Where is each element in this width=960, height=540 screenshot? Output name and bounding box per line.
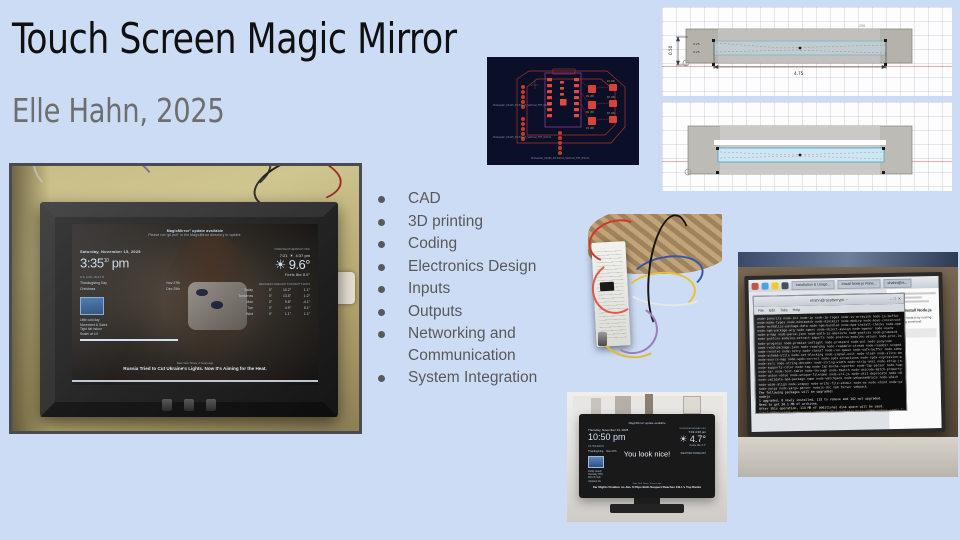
cad-front-elevation-image: 4.75 0.50 0.25 0.25 .250	[662, 7, 952, 96]
skills-list: CAD 3D printing Coding Electronics Desig…	[372, 188, 577, 390]
skill-label: Electronics Design	[408, 256, 536, 278]
bullet-dot-icon	[378, 286, 385, 293]
cad-section-svg	[662, 102, 952, 191]
skill-label: 3D printing	[408, 211, 483, 233]
hardware-button	[162, 399, 172, 411]
svg-text:R3 10K: R3 10K	[607, 112, 615, 115]
presentation-slide: Touch Screen Magic Mirror Elle Hahn, 202…	[0, 0, 960, 540]
svg-text:R1 10K: R1 10K	[607, 80, 615, 83]
mirror-frame: MagicMirror² update available Please run…	[40, 202, 338, 417]
skill-label: Inputs	[408, 278, 450, 300]
skill-label: System Integration	[408, 367, 537, 389]
svg-text:Pinheader_01x05_P2.54mm_Vertic: Pinheader_01x05_P2.54mm_Vertical_THT_02m…	[493, 136, 552, 139]
monitor-calendar-label: US HOLIDAYS	[588, 445, 628, 448]
slide-title: Touch Screen Magic Mirror	[12, 14, 457, 64]
skill-label: Coding	[408, 233, 457, 255]
cad-section-view-image	[662, 102, 952, 191]
menu-edit[interactable]: Edit	[769, 308, 775, 312]
monitor-news-module: New York Times, 3 hours ago Far Rights F…	[583, 483, 711, 489]
svg-text:0.25: 0.25	[693, 50, 700, 54]
background-strip	[738, 252, 958, 267]
bullet-dot-icon	[378, 309, 385, 316]
breadboard-prototype-photo	[570, 214, 722, 370]
svg-text:4.75: 4.75	[794, 71, 804, 76]
menu-help[interactable]: Help	[793, 308, 800, 312]
monitor-screen: MagicMirror² update available Thursday, …	[583, 418, 711, 494]
svg-text:R2 10K: R2 10K	[607, 96, 615, 99]
pcb-layout-image: Pinheader_01x05_P2.54mm_Vertical_THT_01m…	[487, 57, 639, 165]
svg-text:Pinheader_01x05_P2.54mm_Vertic: Pinheader_01x05_P2.54mm_Vertical_THT_01m…	[493, 104, 552, 107]
shelf-object	[645, 394, 653, 414]
monitor-module-list: Partly cloudy Humidity 78% Wind 6 mph Up…	[588, 470, 628, 483]
monitor-time-value: 10:50	[588, 432, 611, 442]
terminal-title-text: ehahn@raspberrypi: ~	[810, 298, 848, 303]
bullet-dot-icon	[378, 219, 385, 226]
slide-subtitle: Elle Hahn, 2025	[12, 90, 225, 132]
list-item: Outputs	[372, 301, 577, 323]
list-item: 3D printing	[372, 211, 577, 233]
monitor-stand-base	[610, 504, 684, 513]
close-icon[interactable]: ✕	[898, 297, 901, 301]
skill-label: Outputs	[408, 301, 462, 323]
menu-tabs[interactable]: Tabs	[780, 308, 788, 312]
cad-sketch-svg: 4.75 0.50 0.25 0.25 .250	[662, 7, 952, 96]
terminal-icon[interactable]	[781, 282, 788, 289]
compliment-text: You look nice!	[583, 450, 711, 459]
maximize-icon[interactable]: □	[894, 297, 896, 301]
shelf-object	[615, 396, 631, 414]
svg-text:Pinheader_01x05_P2.54mm_Vertic: Pinheader_01x05_P2.54mm_Vertical_THT_03m…	[531, 157, 590, 160]
bullet-dot-icon	[378, 241, 385, 248]
mirror-screen: MagicMirror² update available Please run…	[72, 224, 318, 385]
temperature-value: 4.7°	[690, 434, 706, 444]
browser-icon[interactable]	[761, 282, 768, 289]
mirror-hardware-buttons	[162, 399, 216, 411]
bullet-dot-icon	[378, 196, 385, 203]
taskbar-window-button[interactable]: Install Node.js Pana...	[837, 279, 880, 289]
raspberry-menu-icon[interactable]	[751, 282, 758, 289]
terminal-window[interactable]: ehahn@raspberrypi: ~ – □ ✕ File Edit Tab…	[753, 293, 907, 414]
list-item: CAD	[372, 188, 577, 210]
list-item: System Integration	[372, 367, 577, 389]
monitor-time-period: pm	[613, 432, 626, 442]
list-item: Electronics Design	[372, 256, 577, 278]
taskbar-window-button[interactable]: Installation & Usage...	[791, 280, 834, 290]
screen-glare	[72, 224, 318, 385]
bullet-dot-icon	[378, 375, 385, 382]
svg-text:.250: .250	[858, 24, 865, 28]
svg-text:D2 LED: D2 LED	[586, 111, 594, 114]
pcb-svg: Pinheader_01x05_P2.54mm_Vertical_THT_01m…	[487, 57, 639, 165]
bullet-dot-icon	[378, 264, 385, 271]
monitor-bezel: MagicMirror² update available Thursday, …	[579, 414, 715, 498]
terminal-output[interactable]: node-inherits node-ini node-ip node-ip-r…	[754, 312, 906, 413]
monitor-time: 10:50 pm	[588, 432, 628, 442]
shelf-object	[591, 398, 601, 414]
svg-text:D3 LED: D3 LED	[586, 127, 594, 130]
hardware-button	[184, 399, 194, 411]
minimize-icon[interactable]: –	[890, 297, 892, 301]
monitor-compliment-photo: MagicMirror² update available Thursday, …	[567, 392, 727, 522]
list-item: Coding	[372, 233, 577, 255]
monitor-bezel: Installation & Usage... Install Node.js …	[744, 272, 945, 436]
window-controls[interactable]: – □ ✕	[890, 297, 901, 301]
current-temperature: ☀ 4.7°	[679, 434, 706, 444]
list-item: Inputs	[372, 278, 577, 300]
skill-label: CAD	[408, 188, 441, 210]
svg-text:0.50: 0.50	[668, 45, 673, 55]
taskbar-window-button[interactable]: ehahn@ra...	[883, 278, 911, 288]
news-headline: Far Rights Fixation on Jan. 6 Flips Both…	[583, 485, 711, 489]
svg-text:0.25: 0.25	[693, 42, 700, 46]
hardware-button	[206, 399, 216, 411]
keyboard	[738, 437, 958, 477]
menu-file[interactable]: File	[758, 309, 764, 313]
feels-like: Feels like 2.1°	[679, 444, 706, 447]
raspberry-pi-terminal-photo: Installation & Usage... Install Node.js …	[738, 252, 958, 477]
bullet-dot-icon	[378, 331, 385, 338]
magic-mirror-photo: MagicMirror² update available Please run…	[9, 163, 362, 434]
skill-label: Networking and Communication	[408, 323, 577, 366]
list-item: Networking and Communication	[372, 323, 577, 366]
shelf-object	[683, 396, 701, 414]
svg-text:D1 LED: D1 LED	[586, 95, 594, 98]
monitor-update-banner: MagicMirror² update available	[583, 421, 711, 425]
raspberry-pi-desktop: Installation & Usage... Install Node.js …	[748, 276, 941, 432]
file-manager-icon[interactable]	[771, 282, 778, 289]
